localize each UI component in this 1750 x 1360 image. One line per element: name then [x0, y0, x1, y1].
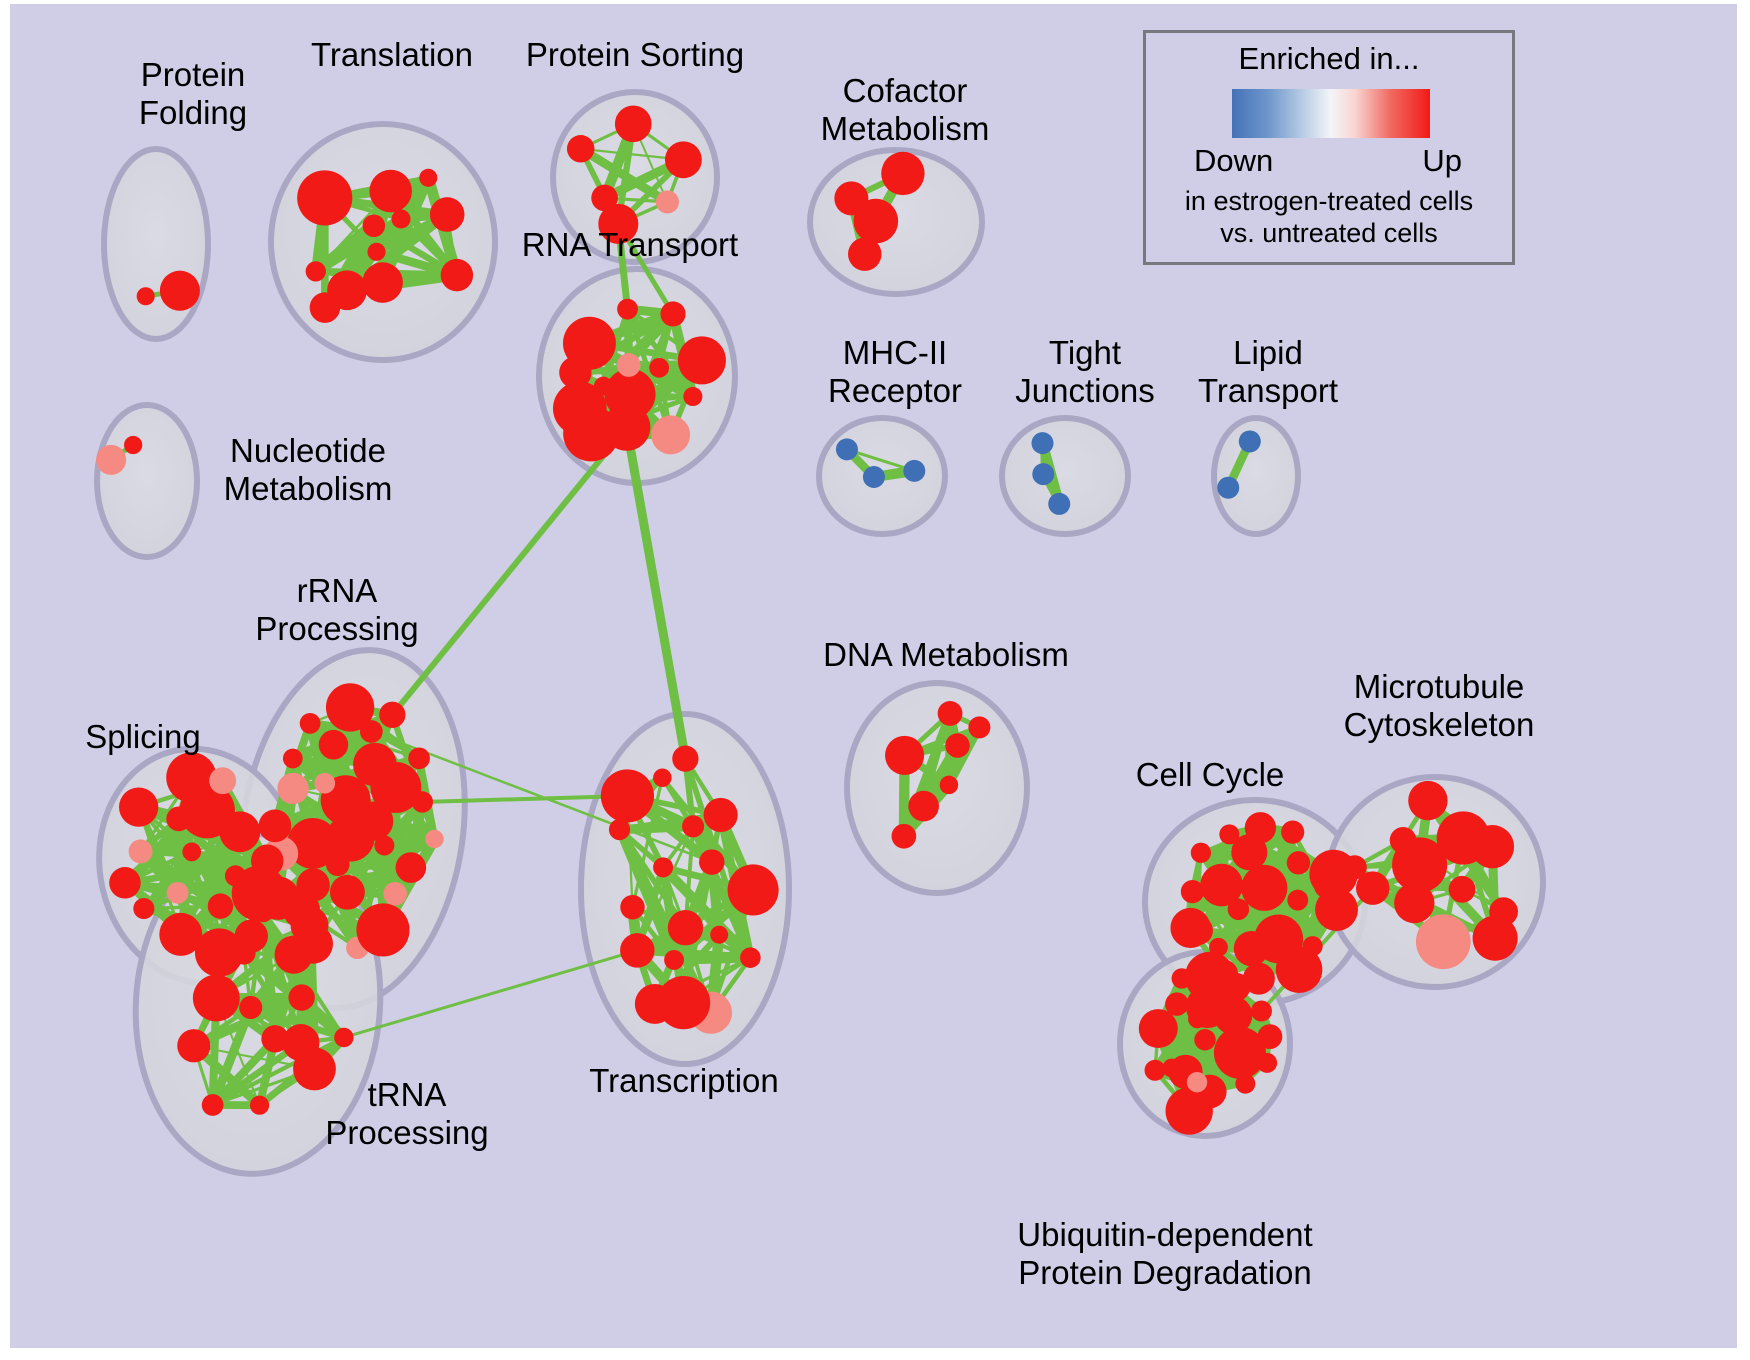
network-node: [330, 875, 365, 910]
network-node: [665, 141, 702, 178]
network-node: [232, 941, 255, 964]
network-node: [1239, 430, 1261, 452]
network-node: [653, 768, 672, 787]
network-node: [664, 950, 684, 970]
legend-color-bar: [1232, 89, 1430, 138]
network-node: [1257, 1024, 1282, 1049]
cluster-label-line-1: Junctions: [995, 372, 1175, 410]
cluster-label-line-0: Ubiquitin-dependent: [990, 1216, 1340, 1254]
cluster-label-splicing: Splicing: [58, 718, 228, 756]
network-node: [656, 190, 679, 213]
network-node: [1188, 1010, 1206, 1028]
network-node: [968, 716, 990, 738]
network-node: [1187, 1072, 1207, 1092]
cluster-label-microtubule-cytoskeleton: MicrotubuleCytoskeleton: [1314, 668, 1564, 744]
network-node: [1162, 1059, 1181, 1078]
network-node: [653, 857, 673, 877]
network-node: [649, 358, 669, 378]
network-node: [326, 683, 374, 731]
network-node: [728, 864, 779, 915]
network-node: [166, 752, 216, 802]
network-node: [250, 1096, 269, 1115]
network-node: [1032, 432, 1054, 454]
network-node: [945, 733, 969, 757]
network-node: [283, 749, 303, 769]
network-node: [1191, 843, 1211, 863]
network-node: [615, 105, 652, 142]
network-node: [300, 713, 321, 734]
network-node: [354, 802, 393, 841]
network-node: [119, 787, 158, 826]
cluster-label-rna-transport: RNA Transport: [510, 226, 750, 264]
network-node: [559, 356, 591, 388]
cluster-label-line-1: Receptor: [805, 372, 985, 410]
network-node: [109, 867, 141, 899]
network-node: [657, 976, 710, 1029]
network-node: [177, 1029, 210, 1062]
cluster-label-line-0: Tight: [995, 334, 1175, 372]
cluster-label-line-1: Transport: [1178, 372, 1358, 410]
network-node: [396, 852, 427, 883]
network-node: [908, 791, 939, 822]
network-node: [306, 261, 326, 281]
legend-subtitle: in estrogen-treated cellsvs. untreated c…: [1146, 185, 1512, 249]
network-node: [699, 849, 725, 875]
network-node: [261, 1025, 288, 1052]
cluster-label-line-0: Transcription: [574, 1062, 794, 1100]
network-node: [441, 259, 473, 291]
network-node: [1170, 908, 1210, 948]
network-node: [314, 773, 335, 794]
network-node: [1200, 864, 1243, 907]
network-node: [288, 984, 314, 1010]
network-node: [903, 460, 925, 482]
cluster-label-line-1: Protein Degradation: [990, 1254, 1340, 1292]
network-node: [209, 767, 236, 794]
network-node: [668, 910, 703, 945]
network-node: [1287, 851, 1310, 874]
network-node: [1254, 914, 1303, 963]
cluster-ellipse-tight-junctions: [1002, 418, 1128, 534]
network-node: [1473, 916, 1518, 961]
network-node: [430, 197, 465, 232]
network-node: [1437, 811, 1490, 864]
network-node: [239, 996, 262, 1019]
legend-subtitle-line-1: vs. untreated cells: [1146, 217, 1512, 249]
network-node: [1416, 914, 1471, 969]
network-node: [277, 773, 308, 804]
cluster-label-tight-junctions: TightJunctions: [995, 334, 1175, 410]
network-node: [620, 895, 644, 919]
cluster-label-line-0: DNA Metabolism: [816, 636, 1076, 674]
network-node: [208, 893, 233, 918]
network-node: [1181, 880, 1204, 903]
network-node: [1281, 821, 1304, 844]
cluster-label-cell-cycle: Cell Cycle: [1110, 756, 1310, 794]
network-node: [1241, 865, 1287, 911]
network-node: [408, 747, 430, 769]
cluster-label-mhc-ii-receptor: MHC-IIReceptor: [805, 334, 985, 410]
network-node: [563, 405, 619, 461]
network-canvas: ProteinFoldingTranslationProtein Sorting…: [10, 4, 1737, 1348]
network-node: [740, 947, 761, 968]
cluster-label-cofactor-metabolism: CofactorMetabolism: [800, 72, 1010, 148]
network-node: [651, 415, 690, 454]
network-node: [940, 776, 959, 795]
network-node: [710, 926, 728, 944]
network-node: [1245, 812, 1276, 843]
network-node: [834, 181, 868, 215]
cluster-label-ubiquitin-protein-degradation: Ubiquitin-dependentProtein Degradation: [990, 1216, 1340, 1292]
network-node: [1048, 493, 1070, 515]
network-node: [678, 336, 726, 384]
network-node: [617, 353, 641, 377]
cluster-ellipse-protein-folding: [104, 149, 208, 339]
network-node: [1139, 1009, 1178, 1048]
network-node: [620, 933, 655, 968]
network-node: [133, 898, 154, 919]
network-node: [356, 903, 409, 956]
network-node: [660, 301, 685, 326]
network-node: [881, 152, 924, 195]
cluster-label-line-0: Protein: [93, 56, 293, 94]
cluster-label-dna-metabolism: DNA Metabolism: [816, 636, 1076, 674]
network-node: [310, 292, 341, 323]
cluster-label-translation: Translation: [282, 36, 502, 74]
network-node: [219, 811, 260, 852]
network-node: [137, 287, 155, 305]
network-node: [160, 271, 200, 311]
network-node: [96, 445, 126, 475]
cluster-label-protein-folding: ProteinFolding: [93, 56, 293, 132]
cluster-label-line-0: Microtubule: [1314, 668, 1564, 706]
network-node: [193, 975, 240, 1022]
cluster-label-line-0: Cell Cycle: [1110, 756, 1310, 794]
cluster-label-line-0: Lipid: [1178, 334, 1358, 372]
network-node: [617, 299, 638, 320]
network-node: [1343, 855, 1367, 879]
network-node: [166, 806, 191, 831]
network-node: [892, 824, 917, 849]
network-node: [567, 135, 595, 163]
network-node: [1032, 463, 1054, 485]
cluster-label-line-1: Processing: [232, 610, 442, 648]
network-node: [367, 243, 385, 261]
cluster-label-line-0: Nucleotide: [203, 432, 413, 470]
network-node: [1251, 1001, 1272, 1022]
network-node: [297, 170, 352, 225]
cluster-label-line-0: Splicing: [58, 718, 228, 756]
network-node: [259, 809, 292, 842]
network-node: [1314, 876, 1336, 898]
network-node: [1287, 890, 1308, 911]
network-node: [863, 466, 885, 488]
network-node: [391, 209, 410, 228]
network-node: [291, 906, 329, 944]
legend-up-label: Up: [1422, 143, 1462, 179]
cluster-label-protein-sorting: Protein Sorting: [510, 36, 760, 74]
cluster-label-line-0: Translation: [282, 36, 502, 74]
network-node: [253, 902, 273, 922]
network-node: [682, 815, 704, 837]
legend-box: Enriched in... Down Up in estrogen-treat…: [1143, 30, 1515, 265]
cluster-label-line-0: MHC-II: [805, 334, 985, 372]
network-node: [319, 730, 349, 760]
network-node: [885, 736, 924, 775]
network-node: [383, 882, 407, 906]
network-node: [938, 701, 963, 726]
network-node: [419, 169, 437, 187]
network-node: [363, 214, 386, 237]
cluster-label-line-0: RNA Transport: [510, 226, 750, 264]
cluster-label-line-1: Processing: [307, 1114, 507, 1152]
cluster-label-rrna-processing: rRNAProcessing: [232, 572, 442, 648]
cluster-label-line-1: Folding: [93, 94, 293, 132]
network-node: [124, 436, 142, 454]
cluster-label-line-0: rRNA: [232, 572, 442, 610]
network-node: [1194, 1029, 1215, 1050]
cluster-label-line-1: Metabolism: [203, 470, 413, 508]
network-node: [425, 830, 443, 848]
network-node: [1408, 781, 1447, 820]
network-node: [167, 882, 189, 904]
network-node: [202, 1094, 224, 1116]
network-node: [182, 843, 201, 862]
network-node: [334, 1028, 353, 1047]
legend-title: Enriched in...: [1146, 41, 1512, 77]
cluster-label-lipid-transport: LipidTransport: [1178, 334, 1358, 410]
cluster-label-line-1: Cytoskeleton: [1314, 706, 1564, 744]
network-node: [704, 798, 738, 832]
network-node: [672, 746, 698, 772]
network-node: [369, 170, 412, 213]
cluster-label-line-1: Metabolism: [800, 110, 1010, 148]
cluster-label-nucleotide-metabolism: NucleotideMetabolism: [203, 432, 413, 508]
cluster-label-transcription: Transcription: [574, 1062, 794, 1100]
network-node: [1204, 963, 1226, 985]
network-node: [1217, 477, 1239, 499]
network-node: [848, 237, 881, 270]
cluster-label-line-0: Cofactor: [800, 72, 1010, 110]
legend-subtitle-line-0: in estrogen-treated cells: [1146, 185, 1512, 217]
network-node: [683, 387, 702, 406]
network-edge: [392, 427, 626, 715]
cluster-label-line-0: tRNA: [307, 1076, 507, 1114]
network-node: [1449, 876, 1476, 903]
figure-stage: ProteinFoldingTranslationProtein Sorting…: [0, 0, 1750, 1360]
network-node: [362, 262, 403, 303]
network-node: [601, 769, 654, 822]
network-node: [1145, 1060, 1166, 1081]
network-node: [836, 438, 858, 460]
cluster-ellipse-nucleotide-metabolism: [97, 405, 197, 557]
legend-down-label: Down: [1194, 143, 1273, 179]
network-node: [379, 702, 405, 728]
network-node: [1165, 992, 1189, 1016]
cluster-label-trna-processing: tRNAProcessing: [307, 1076, 507, 1152]
cluster-label-line-0: Protein Sorting: [510, 36, 760, 74]
network-node: [412, 791, 433, 812]
network-node: [129, 839, 153, 863]
